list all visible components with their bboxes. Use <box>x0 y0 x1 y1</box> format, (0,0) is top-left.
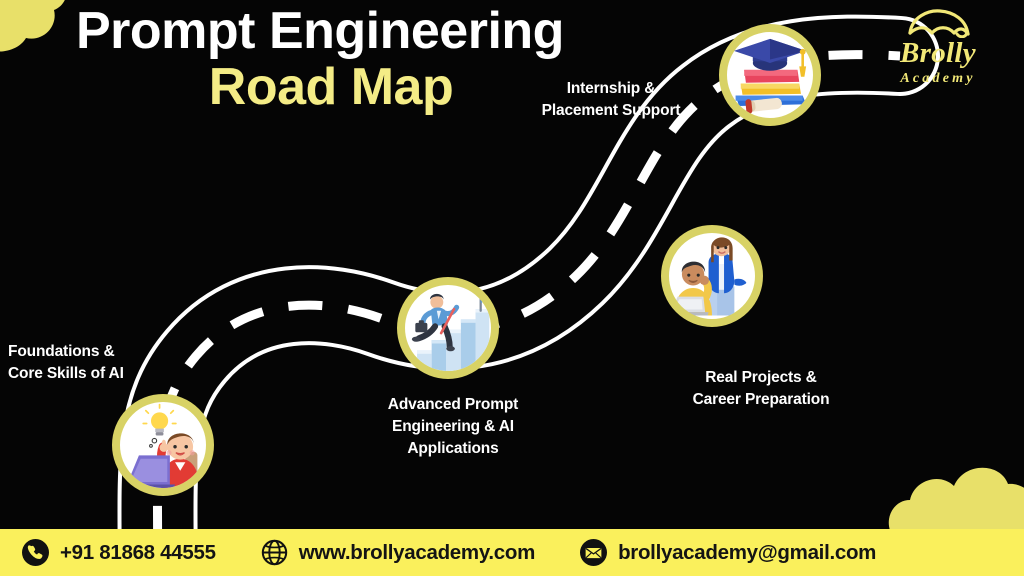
title-line-1: Prompt Engineering <box>76 4 696 58</box>
contact-footer: +91 81868 44555 www.brollyacademy.com br… <box>0 529 1024 576</box>
footer-email[interactable]: brollyacademy@gmail.com <box>580 539 876 566</box>
graduation-cap-books-icon <box>727 32 813 118</box>
logo-subtitle: Academy <box>874 68 1002 89</box>
milestone-internship-label: Internship & Placement Support <box>505 78 717 122</box>
brand-logo[interactable]: Brolly Academy <box>874 8 1002 89</box>
footer-phone-text: +91 81868 44555 <box>60 541 216 565</box>
milestone-advanced-prompt-label: Advanced Prompt Engineering & AI Applica… <box>349 394 557 460</box>
milestone-advanced-prompt-icon-circle[interactable] <box>397 277 499 379</box>
umbrella-icon <box>902 8 974 38</box>
person-climbing-bar-steps-icon <box>405 285 491 371</box>
milestone-foundations-label: Foundations & Core Skills of AI <box>8 341 218 385</box>
two-people-laptop-icon <box>669 233 755 319</box>
footer-phone[interactable]: +91 81868 44555 <box>22 539 216 566</box>
milestone-foundations-icon-circle[interactable] <box>112 394 214 496</box>
boy-with-laptop-lightbulb-icon <box>120 402 206 488</box>
logo-name: Brolly <box>874 39 1002 68</box>
footer-email-text: brollyacademy@gmail.com <box>618 541 876 565</box>
phone-icon <box>22 539 49 566</box>
poster-canvas: Prompt Engineering Road Map Brolly Acade… <box>0 0 1024 576</box>
milestone-real-projects-icon-circle[interactable] <box>661 225 763 327</box>
envelope-icon <box>580 539 607 566</box>
milestone-real-projects-label: Real Projects & Career Preparation <box>630 367 892 411</box>
globe-icon <box>261 539 288 566</box>
milestone-internship-icon-circle[interactable] <box>719 24 821 126</box>
footer-website[interactable]: www.brollyacademy.com <box>261 539 535 566</box>
footer-website-text: www.brollyacademy.com <box>299 541 535 565</box>
